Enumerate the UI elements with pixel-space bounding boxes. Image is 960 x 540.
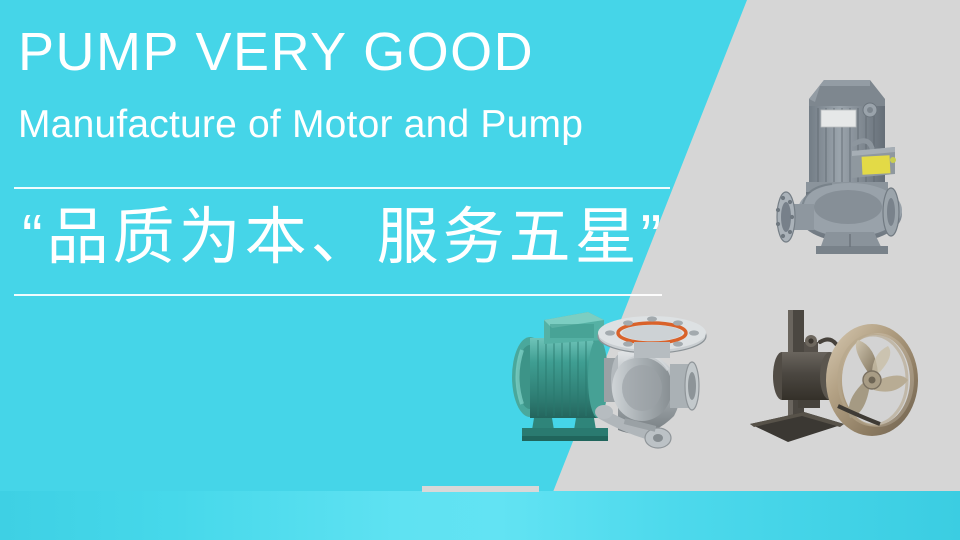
slide-indicator-bar[interactable] (422, 486, 539, 492)
divider-line-top (14, 187, 670, 189)
bottom-gradient-band (0, 491, 960, 540)
banner-subheadline: Manufacture of Motor and Pump (18, 104, 583, 147)
banner-slogan: “品质为本、服务五星” (22, 196, 665, 280)
promo-banner: PUMP VERY GOOD Manufacture of Motor and … (0, 0, 960, 540)
mixer-icon (742, 300, 934, 462)
product-image-horizontal-centrifugal-pump (492, 302, 734, 480)
divider-line-bottom (14, 294, 662, 296)
banner-headline: PUMP VERY GOOD (18, 24, 534, 81)
horizontal-pump-icon (492, 302, 734, 480)
product-image-vertical-inline-pump (762, 44, 960, 272)
vertical-pump-icon (762, 44, 960, 272)
product-image-submersible-mixer (742, 300, 934, 462)
